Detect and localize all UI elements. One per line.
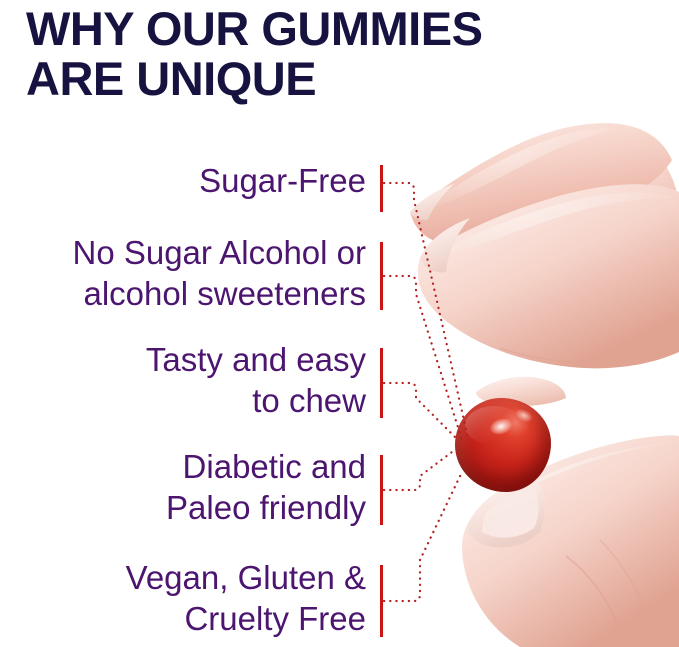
product-benefits-graphic: WHY OUR GUMMIES ARE UNIQUE Sugar-Free No… [0, 0, 679, 647]
page-title: WHY OUR GUMMIES ARE UNIQUE [26, 4, 486, 104]
connector-bar-2 [380, 242, 383, 310]
connector-bar-3 [380, 348, 383, 418]
connector-bar-4 [380, 455, 383, 525]
connector-bar-1 [380, 165, 383, 212]
red-gummy-candy [455, 398, 551, 492]
benefit-label-sugar-free: Sugar-Free [199, 160, 366, 201]
connector-bar-5 [380, 565, 383, 637]
benefit-label-tasty-easy-chew: Tasty and easy to chew [146, 339, 366, 421]
benefit-label-diabetic-paleo: Diabetic and Paleo friendly [166, 446, 366, 528]
benefit-label-vegan-gluten-cruelty-free: Vegan, Gluten & Cruelty Free [126, 557, 366, 639]
benefit-label-no-sugar-alcohol: No Sugar Alcohol or alcohol sweeteners [72, 232, 366, 314]
